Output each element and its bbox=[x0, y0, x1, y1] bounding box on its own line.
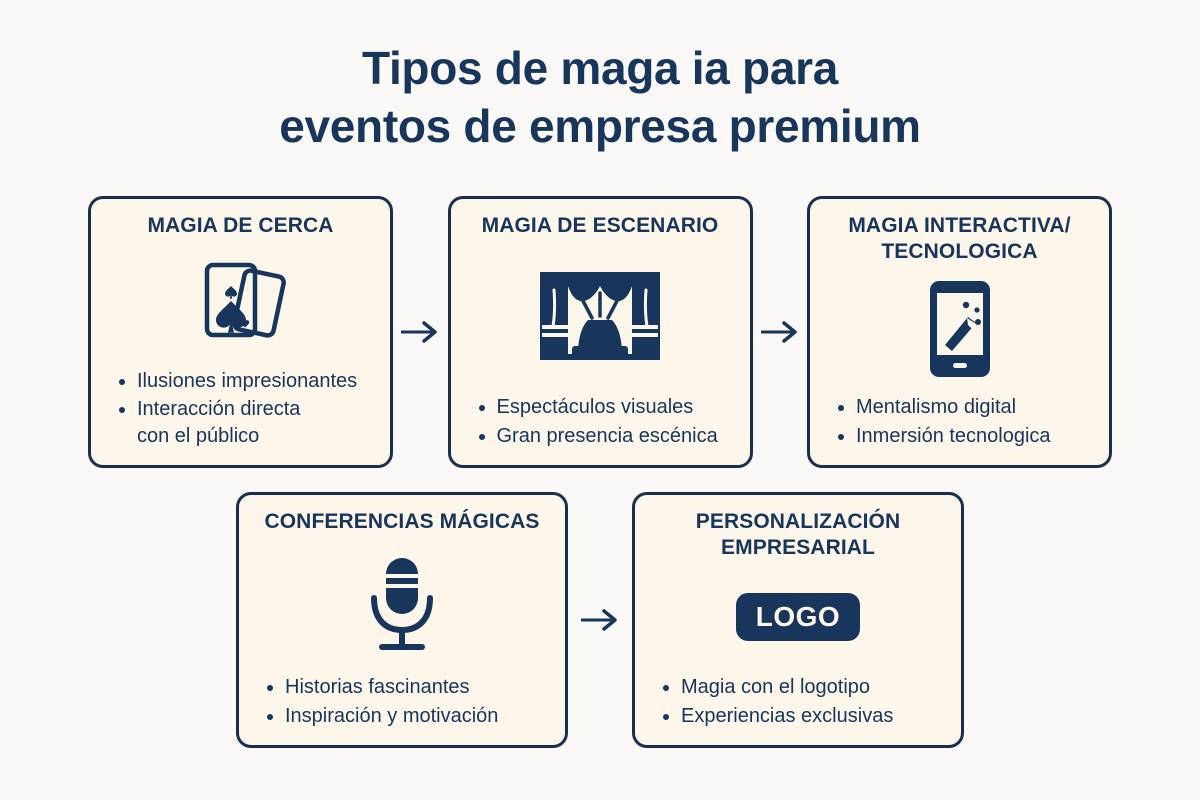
arrow-right-icon bbox=[759, 320, 801, 344]
card-title: PERSONALIZACIÓN EMPRESARIAL bbox=[696, 509, 901, 560]
card-bullets: Mentalismo digital Inmersión tecnologica bbox=[822, 394, 1097, 451]
card-bullets: Historias fascinantes Inspiración y moti… bbox=[251, 674, 553, 731]
card-title: CONFERENCIAS MÁGICAS bbox=[264, 509, 539, 535]
bottom-row: CONFERENCIAS MÁGICAS Historias fascinant… bbox=[236, 492, 964, 748]
arrow-card1-to-card2 bbox=[393, 196, 448, 468]
arrow-card4-to-card5 bbox=[568, 492, 632, 748]
card-magia-de-escenario[interactable]: MAGIA DE ESCENARIO bbox=[448, 196, 753, 468]
microphone-icon bbox=[251, 535, 553, 675]
logo-badge-icon: LOGO bbox=[647, 560, 949, 674]
card-title: MAGIA DE ESCENARIO bbox=[482, 213, 719, 239]
list-item: Historias fascinantes bbox=[265, 674, 553, 700]
card-title: MAGIA INTERACTIVA/ TECNOLOGICA bbox=[848, 213, 1070, 264]
card-bullets: Espectáculos visuales Gran presencia esc… bbox=[463, 394, 738, 451]
list-item: Mentalismo digital bbox=[836, 394, 1097, 420]
arrow-right-icon bbox=[399, 320, 441, 344]
logo-badge-label: LOGO bbox=[736, 593, 860, 641]
page-title: Tipos de maga ia para eventos de empresa… bbox=[0, 40, 1200, 155]
card-magia-interactiva-tecnologica[interactable]: MAGIA INTERACTIVA/ TECNOLOGICA Mentalism… bbox=[807, 196, 1112, 468]
list-item: Inspiración y motivación bbox=[265, 703, 553, 729]
list-item: Magia con el logotipo bbox=[661, 674, 949, 700]
list-item: Espectáculos visuales bbox=[477, 394, 738, 420]
arrow-card2-to-card3 bbox=[753, 196, 808, 468]
page-title-line-1: Tipos de maga ia para bbox=[0, 40, 1200, 98]
card-title: MAGIA DE CERCA bbox=[147, 213, 333, 239]
smartphone-magic-wand-icon bbox=[822, 264, 1097, 394]
card-magia-de-cerca[interactable]: MAGIA DE CERCA Ilusiones impresionantes … bbox=[88, 196, 393, 468]
card-bullets: Ilusiones impresionantes Interacción dir… bbox=[103, 368, 378, 451]
card-personalizacion-empresarial[interactable]: PERSONALIZACIÓN EMPRESARIAL LOGO Magia c… bbox=[632, 492, 964, 748]
card-bullets: Magia con el logotipo Experiencias exclu… bbox=[647, 674, 949, 731]
playing-cards-icon bbox=[103, 239, 378, 368]
list-item: Inmersión tecnologica bbox=[836, 423, 1097, 449]
list-item: Gran presencia escénica bbox=[477, 423, 738, 449]
list-item: Interacción directa con el público bbox=[117, 396, 378, 449]
list-item: Experiencias exclusivas bbox=[661, 703, 949, 729]
card-conferencias-magicas[interactable]: CONFERENCIAS MÁGICAS Historias fascinant… bbox=[236, 492, 568, 748]
theater-stage-icon bbox=[463, 239, 738, 395]
arrow-right-icon bbox=[579, 608, 621, 632]
list-item: Ilusiones impresionantes bbox=[117, 368, 378, 394]
top-row: MAGIA DE CERCA Ilusiones impresionantes … bbox=[88, 196, 1112, 468]
page-title-line-2: eventos de empresa premium bbox=[0, 98, 1200, 156]
